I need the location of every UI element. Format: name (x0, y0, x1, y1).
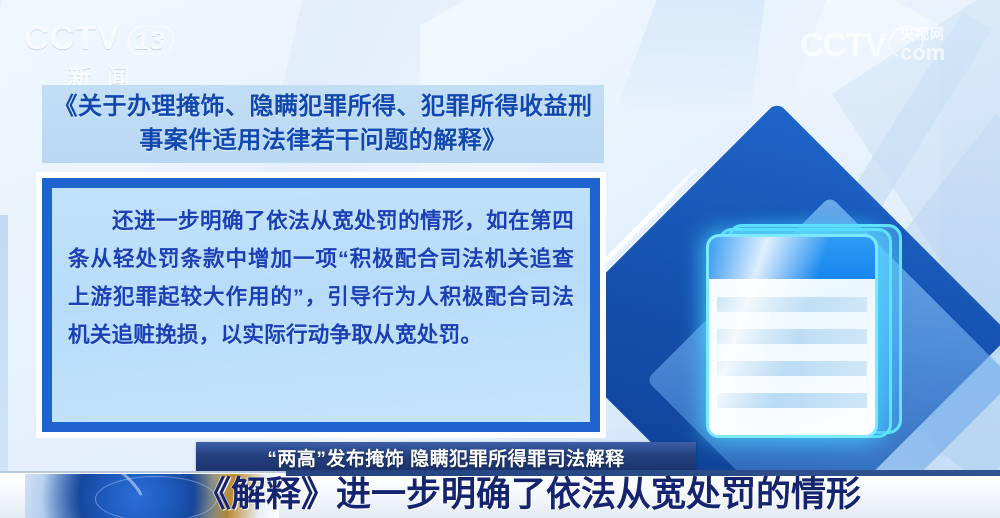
body-card: 还进一步明确了依法从宽处罚的情形，如在第四条从轻处罚条款中增加一项“积极配合司法… (36, 172, 606, 438)
headline: 《解释》进一步明确了依法从宽处罚的情形 (196, 471, 1000, 518)
cctv-com-domain: com (900, 40, 945, 66)
cctv13-logo-number: 13 (124, 25, 175, 55)
sub-banner-text: “两高”发布掩饰 隐瞒犯罪所得罪司法解释 (267, 444, 624, 471)
cctv13-logo-row: CCTV13 (24, 20, 174, 56)
cctv13-logo-brand: CCTV (24, 19, 121, 57)
body-card-inner: 还进一步明确了依法从宽处罚的情形，如在第四条从轻处罚条款中增加一项“积极配合司法… (52, 188, 590, 422)
title-card-text: 《关于办理掩饰、隐瞒犯罪所得、犯罪所得收益刑事案件适用法律若干问题的解释》 (42, 90, 604, 158)
cctv-com-watermark: CCTV 央视网 com (800, 24, 980, 70)
sub-banner: “两高”发布掩饰 隐瞒犯罪所得罪司法解释 (196, 442, 696, 472)
body-card-border: 还进一步明确了依法从宽处罚的情形，如在第四条从轻处罚条款中增加一项“积极配合司法… (42, 178, 600, 432)
title-card: 《关于办理掩饰、隐瞒犯罪所得、犯罪所得收益刑事案件适用法律若干问题的解释》 (42, 85, 604, 163)
cctv13-logo: CCTV13 新闻 (24, 20, 174, 82)
document-icon-front (706, 234, 878, 438)
document-icon (706, 228, 892, 440)
broadcast-screen: CCTV13 新闻 CCTV 央视网 com 《关于办理掩饰、隐瞒犯罪所得、犯罪… (0, 0, 1000, 518)
body-card-text: 还进一步明确了依法从宽处罚的情形，如在第四条从轻处罚条款中增加一项“积极配合司法… (68, 202, 574, 354)
cctv-com-brand: CCTV (800, 26, 886, 64)
headline-text: 《解释》进一步明确了依法从宽处罚的情形 (196, 473, 861, 517)
